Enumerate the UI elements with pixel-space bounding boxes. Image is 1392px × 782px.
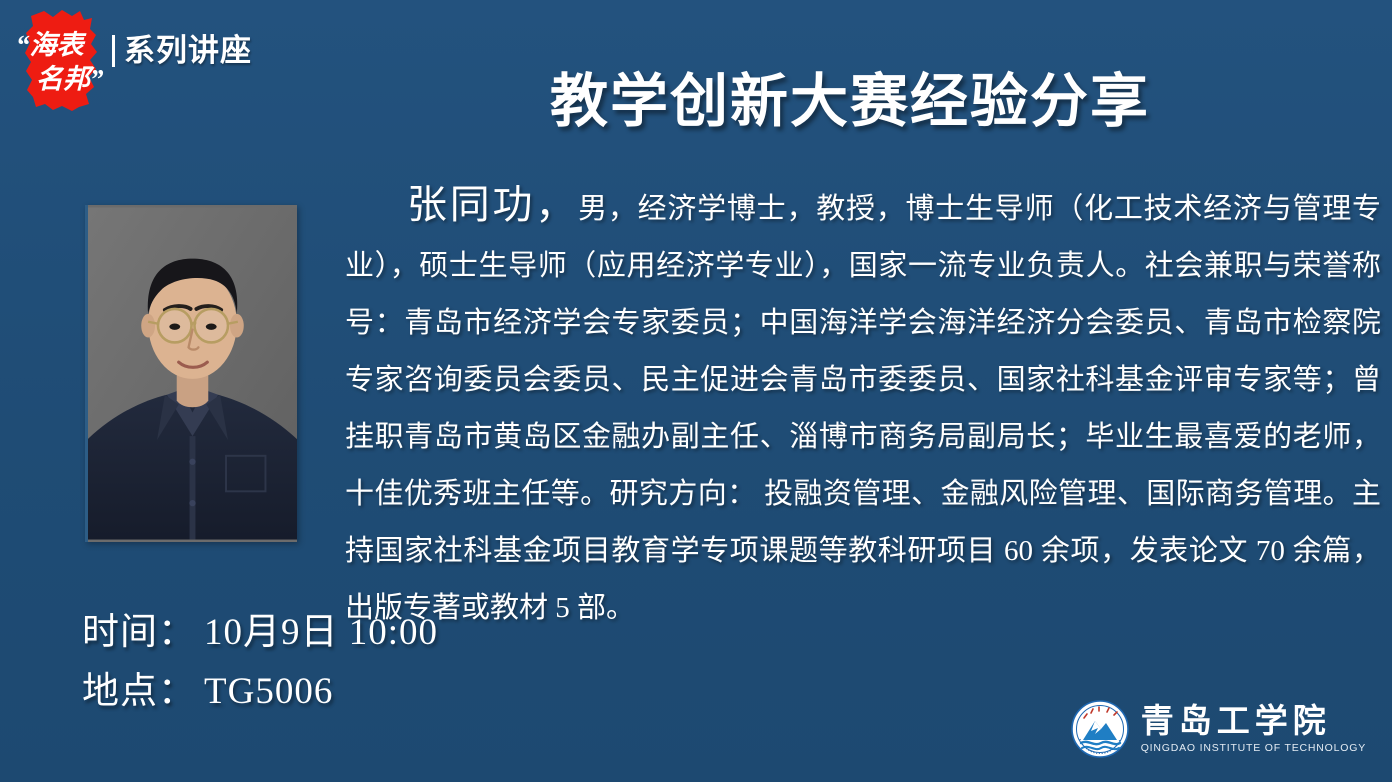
speaker-name: 张同功， bbox=[345, 182, 578, 227]
university-name-cn: 青岛工学院 bbox=[1141, 704, 1366, 741]
event-meta: 时间：10月9日 10:00 地点：TG5006 bbox=[82, 603, 438, 721]
event-time-label: 时间： bbox=[82, 603, 196, 662]
brand-lockup: “海表 名邦” 系列讲座 bbox=[14, 6, 314, 111]
university-name-en: QINGDAO INSTITUTE OF TECHNOLOGY bbox=[1141, 741, 1366, 755]
brand-divider bbox=[112, 35, 115, 67]
university-wordmark: 青岛工学院 QINGDAO INSTITUTE OF TECHNOLOGY bbox=[1141, 704, 1366, 755]
event-time-value: 10月9日 10:00 bbox=[196, 603, 438, 662]
page-title: 教学创新大赛经验分享 bbox=[330, 66, 1370, 138]
event-time-row: 时间：10月9日 10:00 bbox=[82, 603, 438, 662]
red-seal-icon bbox=[22, 8, 100, 111]
university-emblem-icon bbox=[1071, 700, 1129, 758]
series-label: 系列讲座 bbox=[124, 32, 252, 70]
university-logo: 青岛工学院 QINGDAO INSTITUTE OF TECHNOLOGY bbox=[1071, 698, 1366, 760]
event-place-label: 地点： bbox=[82, 662, 196, 721]
event-place-row: 地点：TG5006 bbox=[82, 662, 438, 721]
event-place-value: TG5006 bbox=[196, 662, 333, 721]
speaker-bio: 张同功，男，经济学博士，教授，博士生导师（化工技术经济与管理专业），硕士生导师（… bbox=[345, 176, 1381, 637]
poster-canvas: “海表 名邦” 系列讲座 教学创新大赛经验分享 bbox=[0, 0, 1392, 782]
speaker-bio-text: 男，经济学博士，教授，博士生导师（化工技术经济与管理专业），硕士生导师（应用经济… bbox=[345, 193, 1381, 624]
speaker-portrait bbox=[85, 205, 297, 542]
